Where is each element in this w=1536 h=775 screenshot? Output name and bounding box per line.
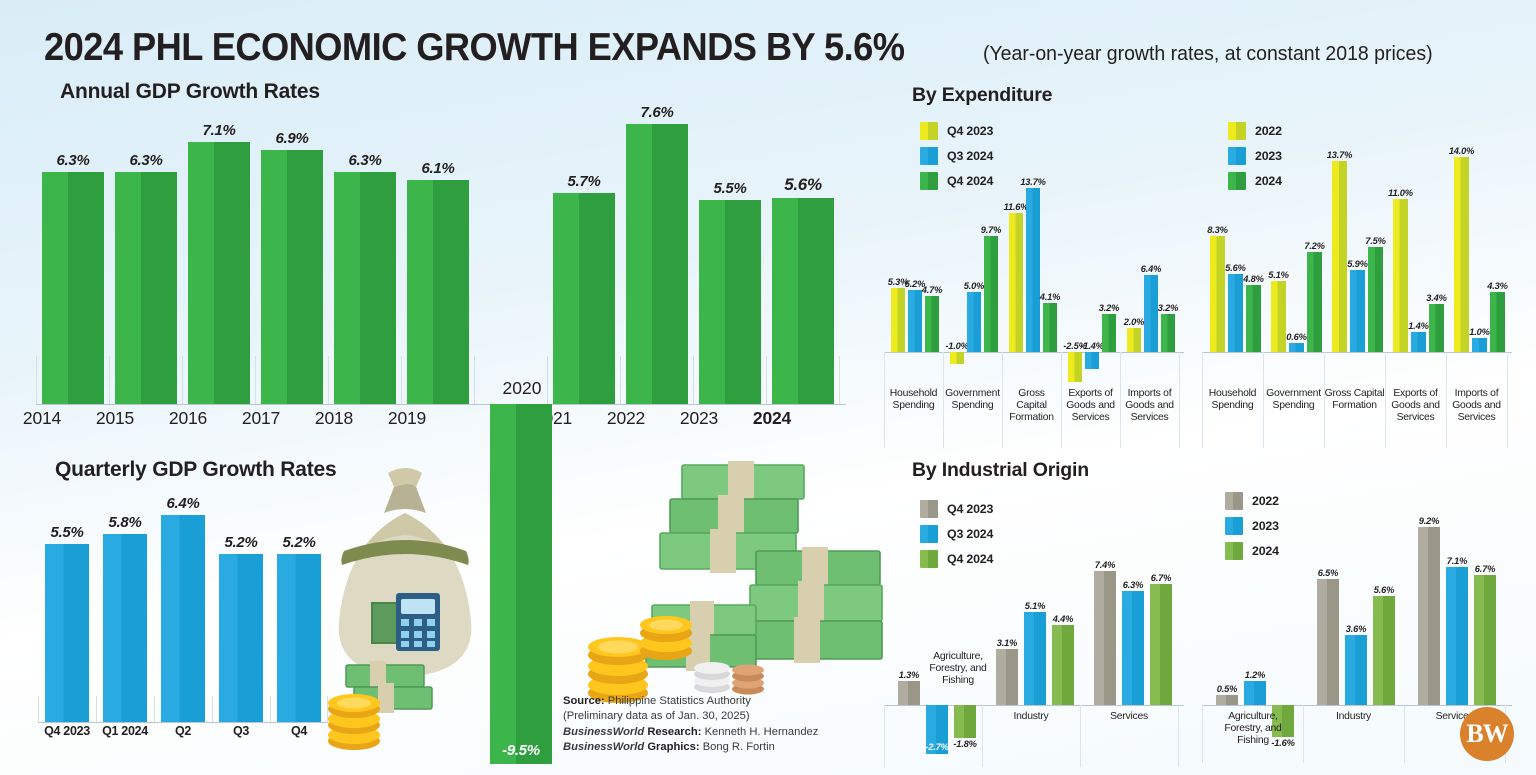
bar-value-label: 6.1% <box>422 160 455 177</box>
graphics-label: Graphics: <box>647 741 699 753</box>
bar-2022: 8.3% <box>1210 236 1225 352</box>
xlabel-government-spending: Government Spending <box>1263 388 1324 412</box>
bar-value-label: 9.7% <box>981 225 1001 235</box>
group-exports: -2.5% -1.4% 3.2% <box>1068 110 1116 352</box>
source-value: Philippine Statistics Authority <box>608 695 751 707</box>
group-exports: 11.0% 1.4% 3.4% <box>1393 110 1444 352</box>
bar-value-label: 13.7% <box>1020 177 1045 187</box>
bar-2023: 5.6% <box>1228 274 1243 352</box>
bar-2022: 5.1% <box>1271 281 1286 352</box>
bar-value-label: 0.5% <box>1217 684 1237 694</box>
grid-sep <box>1178 705 1179 767</box>
bar-q3-2024: -1.4% <box>1085 352 1099 369</box>
bar-rect <box>115 172 177 404</box>
bar-value-label: 1.0% <box>1469 327 1489 337</box>
bar-value-label: 1.3% <box>899 670 919 680</box>
group-household-spending: 5.3% 5.2% 4.7% <box>891 110 939 352</box>
bar-rect <box>45 544 89 722</box>
bar-value-label: 4.8% <box>1243 274 1263 284</box>
source-line-1: Source: Philippine Statistics Authority <box>563 694 818 709</box>
quarterly-bar-q4: 5.2% <box>277 534 321 722</box>
industrial-quarterly-chart: 1.3% -2.7% -1.8% 3.1% 5.1% 4.4% 7.4% 6.3… <box>884 455 1184 775</box>
grid-sep <box>96 696 97 722</box>
bar-rect <box>334 172 396 404</box>
group-industry: 6.5% 3.6% 5.6% <box>1317 455 1395 705</box>
bar-q4-2023: 7.4% <box>1094 571 1116 705</box>
annual-bar-2016: 7.1% <box>188 122 250 404</box>
bar-rect <box>772 198 834 404</box>
bar-value-label: 6.4% <box>167 495 200 512</box>
bar-2023: 3.6% <box>1345 635 1367 705</box>
group-household-spending: 8.3% 5.6% 4.8% <box>1210 110 1261 352</box>
bar-q4-2023: 11.6% <box>1009 213 1023 352</box>
bar-value-label: 5.5% <box>51 524 84 541</box>
annual-bar-2020: -9.5% <box>490 404 552 764</box>
bar-q4-2024: 9.7% <box>984 236 998 352</box>
grid-sep <box>182 356 183 404</box>
bar-2023: 0.6% <box>1289 343 1304 352</box>
bar-value-label: 5.2% <box>283 534 316 551</box>
quarterly-xlabel-2: Q2 <box>151 724 215 738</box>
grid-sep <box>38 696 39 722</box>
bar-rect <box>219 554 263 722</box>
bar-2023: 1.4% <box>1411 332 1426 352</box>
bar-2023: 1.0% <box>1472 338 1487 352</box>
grid-sep <box>212 696 213 722</box>
xlabel-gross-capital: Gross Capital Formation <box>1324 388 1385 412</box>
brand-name: BusinessWorld <box>563 741 644 753</box>
xlabel-household-spending: Household Spending <box>1202 388 1263 412</box>
bar-value-label: 5.7% <box>568 173 601 190</box>
bar-value-label: 2.0% <box>1124 317 1144 327</box>
bar-rect <box>626 124 688 404</box>
bar-rect <box>699 200 761 404</box>
bar-q4-2023: -2.5% <box>1068 352 1082 382</box>
bar-value-label: 11.6% <box>1004 202 1029 212</box>
bar-2023: 1.2% <box>1244 681 1266 705</box>
bar-value-label: 7.1% <box>203 122 236 139</box>
group-government-spending: 5.1% 0.6% 7.2% <box>1271 110 1322 352</box>
bar-rect <box>261 150 323 404</box>
annual-gdp-chart: 6.3% 6.3% 7.1% 6.9% 6.3% 6.1% 5. <box>36 104 846 404</box>
bar-rect <box>188 142 250 404</box>
bar-value-label: 4.7% <box>922 285 942 295</box>
bar-2024: 3.4% <box>1429 304 1444 352</box>
annual-bar-2022: 7.6% <box>626 104 688 404</box>
annual-bar-2018: 6.3% <box>334 152 396 404</box>
expenditure-quarterly-chart: 5.3% 5.2% 4.7% -1.0% 5.0% 9.7% 11.6% 13.… <box>884 110 1184 440</box>
bar-value-label: 6.3% <box>349 152 382 169</box>
bar-value-label: 6.5% <box>1318 568 1338 578</box>
annual-bar-2015: 6.3% <box>115 152 177 404</box>
grid-sep <box>1202 705 1203 763</box>
quarterly-xlabel-1: Q1 2024 <box>93 724 157 738</box>
xlabel-household-spending: Household Spending <box>884 388 943 412</box>
xlabel-government-spending: Government Spending <box>943 388 1002 412</box>
graphics-credit: BusinessWorld Graphics: Bong R. Fortin <box>563 740 818 755</box>
bar-value-label: 4.4% <box>1053 614 1073 624</box>
bar-2022: 11.0% <box>1393 199 1408 352</box>
grid-sep <box>474 356 475 404</box>
bar-2024: 7.2% <box>1307 252 1322 352</box>
zero-axis-line <box>1202 352 1512 353</box>
bar-value-label: -9.5% <box>502 742 540 759</box>
grid-sep <box>693 356 694 404</box>
annual-bar-2017: 6.9% <box>261 130 323 404</box>
bar-rect <box>407 180 469 404</box>
bar-value-label: 7.2% <box>1304 241 1324 251</box>
bar-value-label: 6.4% <box>1141 264 1161 274</box>
bar-value-label: 5.1% <box>1268 270 1288 280</box>
annual-chart-title: Annual GDP Growth Rates <box>60 80 320 104</box>
bar-value-label: 3.6% <box>1346 624 1366 634</box>
quarterly-bar-q4-2023: 5.5% <box>45 524 89 722</box>
bar-value-label: 6.7% <box>1475 564 1495 574</box>
expenditure-annual-chart: 8.3% 5.6% 4.8% 5.1% 0.6% 7.2% 13.7% 5.9%… <box>1202 110 1512 440</box>
bar-value-label: 3.1% <box>997 638 1017 648</box>
bar-value-label: 5.6% <box>1225 263 1245 273</box>
grid-sep <box>839 356 840 404</box>
brand-name: BusinessWorld <box>563 726 644 738</box>
grid-sep <box>766 356 767 404</box>
bar-q4-2024: 4.7% <box>925 296 939 352</box>
grid-sep <box>36 356 37 404</box>
group-imports: 14.0% 1.0% 4.3% <box>1454 110 1505 352</box>
bar-value-label: 4.1% <box>1040 292 1060 302</box>
grid-sep <box>884 705 885 767</box>
bar-value-label: 5.1% <box>1025 601 1045 611</box>
grid-sep <box>620 356 621 404</box>
group-industry: 3.1% 5.1% 4.4% <box>996 455 1074 705</box>
xlabel-exports: Exports of Goods and Services <box>1385 388 1446 423</box>
infographic-canvas: 2024 PHL ECONOMIC GROWTH EXPANDS BY 5.6%… <box>0 0 1536 775</box>
page-title: 2024 PHL ECONOMIC GROWTH EXPANDS BY 5.6% <box>44 26 904 70</box>
bar-q3-2024: 6.4% <box>1144 275 1158 352</box>
bar-value-label: 5.6% <box>784 175 822 195</box>
bar-value-label: 14.0% <box>1449 146 1474 156</box>
grid-sep <box>328 356 329 404</box>
xlabel-imports: Imports of Goods and Services <box>1446 388 1507 423</box>
bar-rect <box>277 554 321 722</box>
group-gross-capital-formation: 13.7% 5.9% 7.5% <box>1332 110 1383 352</box>
bar-q4-2024: 4.1% <box>1043 303 1057 352</box>
bar-value-label: 3.2% <box>1099 303 1119 313</box>
bar-2024: 4.3% <box>1490 292 1505 352</box>
bar-value-label: 1.2% <box>1245 670 1265 680</box>
bar-value-label: 7.5% <box>1365 236 1385 246</box>
expenditure-section-title: By Expenditure <box>912 84 1052 107</box>
bar-value-label: 7.6% <box>641 104 674 121</box>
bar-rect <box>103 534 147 722</box>
bar-value-label: 5.8% <box>109 514 142 531</box>
bar-value-label: 7.4% <box>1095 560 1115 570</box>
group-gross-capital-formation: 11.6% 13.7% 4.1% <box>1009 110 1057 352</box>
annual-xlabel-2019: 2019 <box>362 408 452 429</box>
research-credit: BusinessWorld Research: Kenneth H. Herna… <box>563 725 818 740</box>
bar-value-label: -2.7% <box>925 742 948 752</box>
annual-bar-2024: 5.6% <box>772 175 834 404</box>
xlabel-industry: Industry <box>982 711 1080 723</box>
bar-q4-2024: 6.7% <box>1150 584 1172 705</box>
group-government-spending: -1.0% 5.0% 9.7% <box>950 110 998 352</box>
bar-value-label: 6.9% <box>276 130 309 147</box>
bar-value-label: 6.7% <box>1151 573 1171 583</box>
bar-value-label: -1.4% <box>1080 341 1103 351</box>
bar-value-label: 9.2% <box>1419 516 1439 526</box>
grid-sep <box>255 356 256 404</box>
bar-2023: 7.1% <box>1446 567 1468 705</box>
zero-axis-line <box>884 352 1184 353</box>
businessworld-logo: BW <box>1460 707 1514 761</box>
grid-sep <box>109 356 110 404</box>
grid-sep <box>1179 352 1180 448</box>
research-value: Kenneth H. Hernandez <box>705 726 819 738</box>
bar-value-label: 13.7% <box>1327 150 1352 160</box>
source-label: Source: <box>563 695 605 707</box>
annual-bar-2021: 5.7% <box>553 173 615 404</box>
zero-axis-line <box>1202 705 1512 706</box>
bar-q4-2024: 3.2% <box>1102 314 1116 352</box>
research-label: Research: <box>647 726 701 738</box>
bar-q3-2024: -2.7% <box>926 705 948 754</box>
bar-rect <box>42 172 104 404</box>
group-services: 9.2% 7.1% 6.7% <box>1418 455 1496 705</box>
group-agriculture: 0.5% 1.2% -1.6% <box>1216 455 1294 705</box>
xlabel-gross-capital: Gross Capital Formation <box>1002 388 1061 423</box>
bar-value-label: 11.0% <box>1388 188 1413 198</box>
bar-2022: 13.7% <box>1332 161 1347 352</box>
bar-2024: 6.7% <box>1474 575 1496 705</box>
bar-value-label: 7.1% <box>1447 556 1467 566</box>
money-bag-illustration <box>318 455 488 755</box>
bar-value-label: 5.5% <box>714 180 747 197</box>
bar-q4-2023: 1.3% <box>898 681 920 705</box>
bar-rect <box>161 515 205 722</box>
bar-value-label: 6.3% <box>1123 580 1143 590</box>
bar-q3-2024: 5.0% <box>967 292 981 352</box>
quarterly-axis-line <box>38 722 328 723</box>
grid-sep <box>1507 352 1508 448</box>
bar-q4-2023: 3.1% <box>996 649 1018 705</box>
xlabel-exports: Exports of Goods and Services <box>1061 388 1120 423</box>
page-subtitle: (Year-on-year growth rates, at constant … <box>983 42 1433 66</box>
bar-q4-2024: 3.2% <box>1161 314 1175 352</box>
bar-value-label: 3.4% <box>1426 293 1446 303</box>
xlabel-services: Services <box>1080 711 1178 723</box>
annual-bar-2023: 5.5% <box>699 180 761 404</box>
quarterly-chart-title: Quarterly GDP Growth Rates <box>55 458 337 482</box>
bar-2024: 7.5% <box>1368 247 1383 352</box>
bar-q4-2024: -1.8% <box>954 705 976 738</box>
bar-q4-2023: 2.0% <box>1127 328 1141 352</box>
quarterly-gdp-chart: 5.5% 5.8% 6.4% 5.2% 5.2% Q4 2023 Q1 2024… <box>38 500 328 718</box>
bar-value-label: 5.9% <box>1347 259 1367 269</box>
bar-value-label: 5.2% <box>225 534 258 551</box>
bar-2024: 5.6% <box>1373 596 1395 705</box>
quarterly-xlabel-0: Q4 2023 <box>35 724 99 738</box>
bar-value-label: 1.4% <box>1408 321 1428 331</box>
bar-q3-2024: 5.2% <box>908 290 922 352</box>
annual-xlabel-2024: 2024 <box>727 408 817 429</box>
bar-2022: 9.2% <box>1418 527 1440 705</box>
bar-q4-2024: 4.4% <box>1052 625 1074 705</box>
bar-value-label: 8.3% <box>1207 225 1227 235</box>
bar-value-label: 5.0% <box>964 281 984 291</box>
bar-q3-2024: 5.1% <box>1024 612 1046 705</box>
bar-value-label: 6.3% <box>57 152 90 169</box>
grid-sep <box>154 696 155 722</box>
quarterly-bar-q1-2024: 5.8% <box>103 514 147 722</box>
bar-q3-2024: 6.3% <box>1122 591 1144 705</box>
bar-2024: 4.8% <box>1246 285 1261 352</box>
bar-value-label: 0.6% <box>1286 332 1306 342</box>
xlabel-agriculture: Agriculture, Forestry, and Fishing <box>928 651 988 686</box>
xlabel-industry: Industry <box>1303 711 1404 723</box>
cash-stack-illustration <box>560 455 890 715</box>
bar-2022: 0.5% <box>1216 695 1238 705</box>
bar-value-label: -1.0% <box>945 341 968 351</box>
annual-axis-line <box>36 404 846 405</box>
group-services: 7.4% 6.3% 6.7% <box>1094 455 1172 705</box>
headline-block: 2024 PHL ECONOMIC GROWTH EXPANDS BY 5.6%… <box>44 26 1456 70</box>
annual-bar-2019: 6.1% <box>407 160 469 404</box>
bar-value-label: 4.3% <box>1487 281 1507 291</box>
bar-value-label: 3.2% <box>1158 303 1178 313</box>
source-credits: Source: Philippine Statistics Authority … <box>563 694 818 755</box>
xlabel-agriculture: Agriculture, Forestry, and Fishing <box>1208 711 1298 746</box>
bar-q4-2023: 5.3% <box>891 288 905 352</box>
graphics-value: Bong R. Fortin <box>703 741 775 753</box>
bar-value-label: -1.8% <box>953 739 976 749</box>
xlabel-imports: Imports of Goods and Services <box>1120 388 1179 423</box>
group-imports: 2.0% 6.4% 3.2% <box>1127 110 1175 352</box>
bar-value-label: 5.6% <box>1374 585 1394 595</box>
bar-rect <box>553 193 615 404</box>
annual-bar-2014: 6.3% <box>42 152 104 404</box>
source-line-2: (Preliminary data as of Jan. 30, 2025) <box>563 709 818 724</box>
bar-2022: 6.5% <box>1317 579 1339 705</box>
quarterly-bar-q3: 5.2% <box>219 534 263 722</box>
grid-sep <box>270 696 271 722</box>
bar-2022: 14.0% <box>1454 157 1469 352</box>
bar-value-label: 6.3% <box>130 152 163 169</box>
quarterly-bar-q2: 6.4% <box>161 495 205 722</box>
bar-q3-2024: 13.7% <box>1026 188 1040 352</box>
annual-xlabel-2020: 2020 <box>478 378 566 399</box>
quarterly-xlabel-3: Q3 <box>209 724 273 738</box>
grid-sep <box>401 356 402 404</box>
bar-2023: 5.9% <box>1350 270 1365 352</box>
bar-q4-2023: -1.0% <box>950 352 964 364</box>
